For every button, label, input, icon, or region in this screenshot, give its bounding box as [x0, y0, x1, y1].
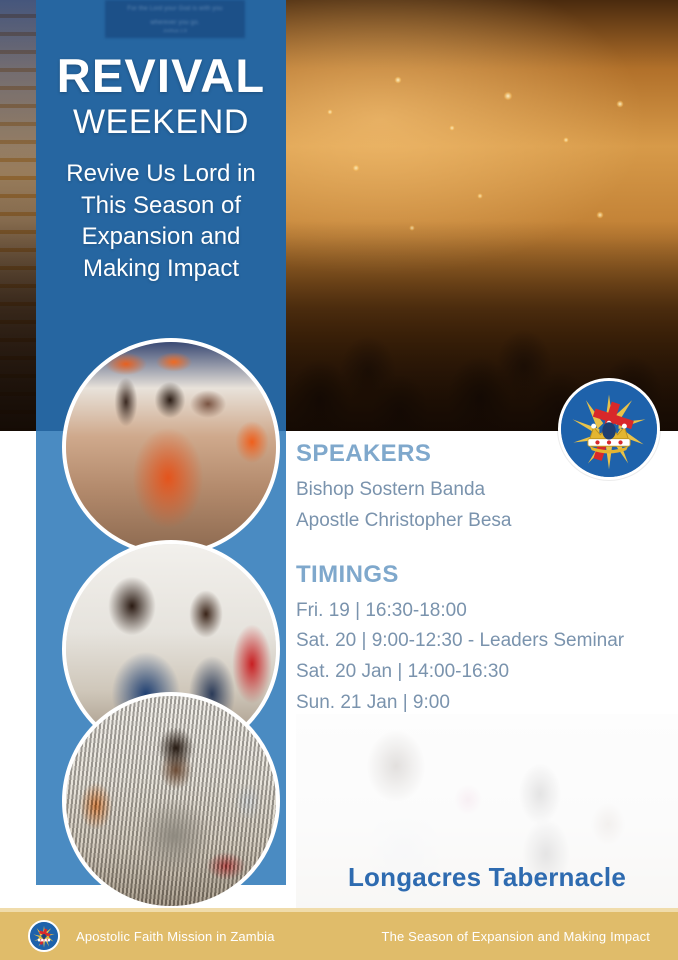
afm-crest-logo	[558, 378, 660, 480]
timing-item: Sat. 20 | 9:00-12:30 - Leaders Seminar	[296, 626, 668, 657]
speaker-item: Apostle Christopher Besa	[296, 506, 668, 537]
afm-crest-icon-small	[30, 922, 58, 950]
afm-crest-logo-small	[28, 920, 60, 952]
section-spacer	[296, 537, 668, 561]
timings-block: TIMINGS Fri. 19 | 16:30-18:00 Sat. 20 | …	[296, 561, 668, 719]
timing-item: Sat. 20 Jan | 14:00-16:30	[296, 657, 668, 688]
venue-name: Longacres Tabernacle	[296, 862, 678, 893]
photo-circle-1	[62, 338, 280, 556]
footer-organization: Apostolic Faith Mission in Zambia	[76, 929, 275, 944]
woman-in-striped-shirt-praying-image	[66, 696, 276, 906]
poster-root: For the Lord your God is with you wherev…	[0, 0, 678, 960]
afm-crest-icon	[561, 381, 657, 477]
banner-line-1: For the Lord your God is with you	[105, 0, 245, 14]
timings-heading: TIMINGS	[296, 561, 668, 589]
background-scripture-banner: For the Lord your God is with you wherev…	[105, 0, 245, 38]
poster-subtitle: WEEKEND	[42, 103, 280, 142]
footer-bar: Apostolic Faith Mission in Zambia The Se…	[0, 912, 678, 960]
photo-circle-3	[62, 692, 280, 910]
timing-item: Sun. 21 Jan | 9:00	[296, 688, 668, 719]
details-section: SPEAKERS Bishop Sostern Banda Apostle Ch…	[296, 440, 668, 719]
woman-in-red-dress-worshipping-image	[66, 342, 276, 552]
poster-tagline: Revive Us Lord in This Season of Expansi…	[42, 158, 280, 285]
timing-item: Fri. 19 | 16:30-18:00	[296, 596, 668, 627]
poster-title: REVIVAL	[42, 52, 280, 99]
hero-text-block: REVIVAL WEEKEND Revive Us Lord in This S…	[36, 52, 286, 285]
footer-slogan: The Season of Expansion and Making Impac…	[382, 929, 650, 944]
banner-reference: Joshua 1:9	[105, 27, 245, 35]
banner-line-2: wherever you go.	[105, 14, 245, 28]
